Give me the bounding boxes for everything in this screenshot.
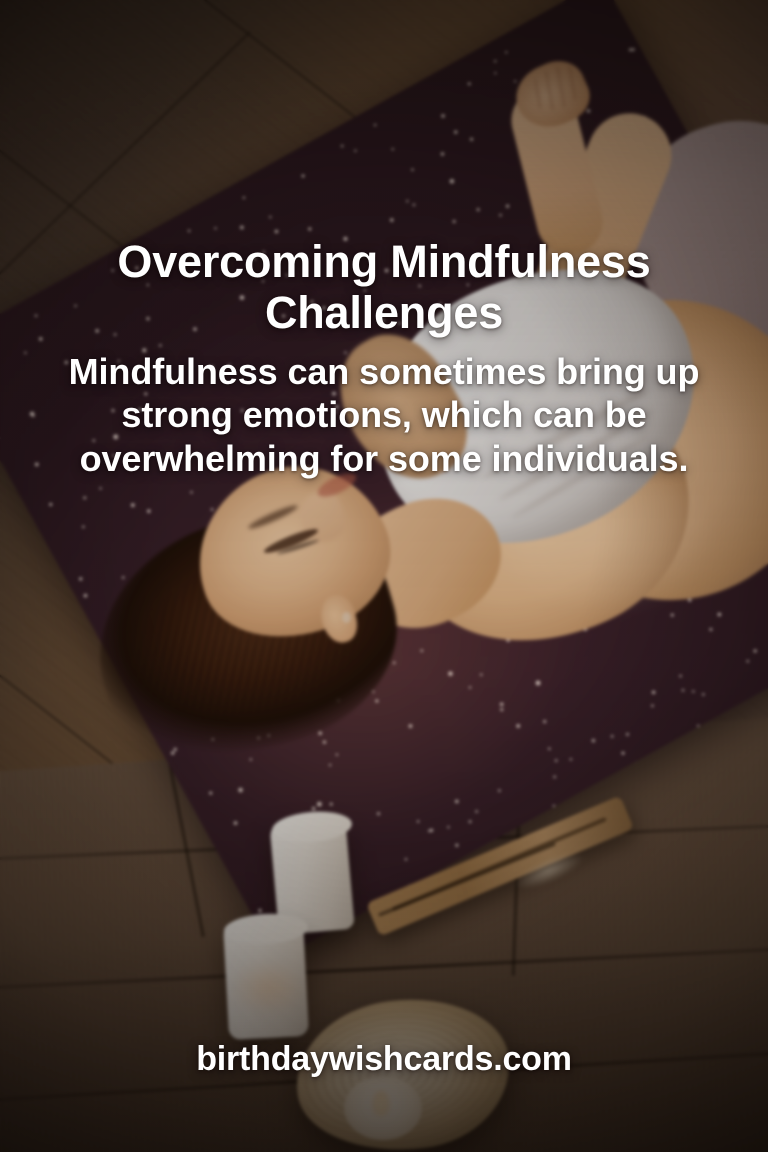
body-text: Mindfulness can sometimes bring up stron… xyxy=(60,350,708,481)
text-overlay: Overcoming Mindfulness Challenges Mindfu… xyxy=(0,0,768,1152)
page-title: Overcoming Mindfulness Challenges xyxy=(64,236,704,339)
pinterest-pin-card: Overcoming Mindfulness Challenges Mindfu… xyxy=(0,0,768,1152)
